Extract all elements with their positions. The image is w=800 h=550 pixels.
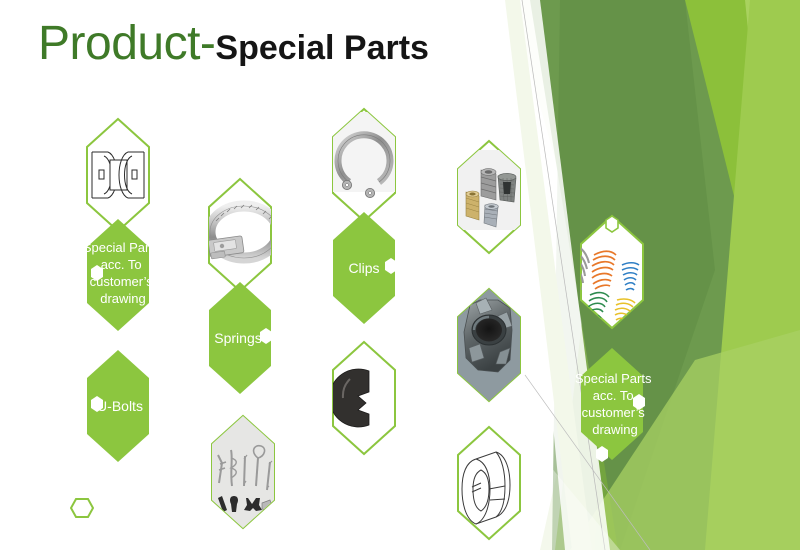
hexagon-u-bolts[interactable]: U-Bolts	[87, 350, 149, 462]
hexagon-bushing-drawing[interactable]	[458, 427, 520, 539]
hexagon-outline	[209, 179, 271, 291]
cotter-pins-r-clips-photo-icon	[212, 416, 274, 528]
hexagon-hose-clamp[interactable]	[208, 179, 278, 291]
hexagon-t-nut[interactable]	[458, 289, 520, 401]
hexagon-label: Clips	[348, 260, 379, 276]
hexagon-springs[interactable]: Springs	[209, 282, 272, 394]
hexagon-label: U-Bolts	[97, 398, 143, 414]
hexagon-grid: Special Parts acc. To customer’s drawing…	[0, 0, 800, 550]
hexagon-e-clip[interactable]	[329, 342, 395, 454]
small-outline-hexagon	[70, 497, 94, 524]
hexagon-special-parts-left[interactable]: Special Parts acc. To customer’s drawing	[83, 219, 163, 331]
hexagon-accent-top-springs	[606, 216, 618, 232]
threaded-insert-nuts-photo-icon	[458, 150, 520, 230]
slide-canvas: Product-Special Parts	[0, 0, 800, 550]
circlip-retaining-ring-photo-icon	[333, 112, 395, 198]
t-nut-prong-photo-icon	[458, 289, 520, 401]
hexagon-cotter-pins[interactable]	[212, 416, 274, 528]
hexagon-clips[interactable]: Clips	[333, 212, 397, 324]
hexagon-colored-springs[interactable]	[555, 216, 643, 328]
hexagon-circlip[interactable]	[333, 109, 395, 221]
hexagon-clamp-drawing[interactable]	[87, 119, 149, 231]
hexagon-special-parts-right[interactable]: Special Parts acc. To customer’s drawing	[575, 348, 655, 462]
hexagon-threaded-inserts[interactable]	[458, 141, 520, 253]
hexagon-label: Springs	[214, 330, 261, 346]
